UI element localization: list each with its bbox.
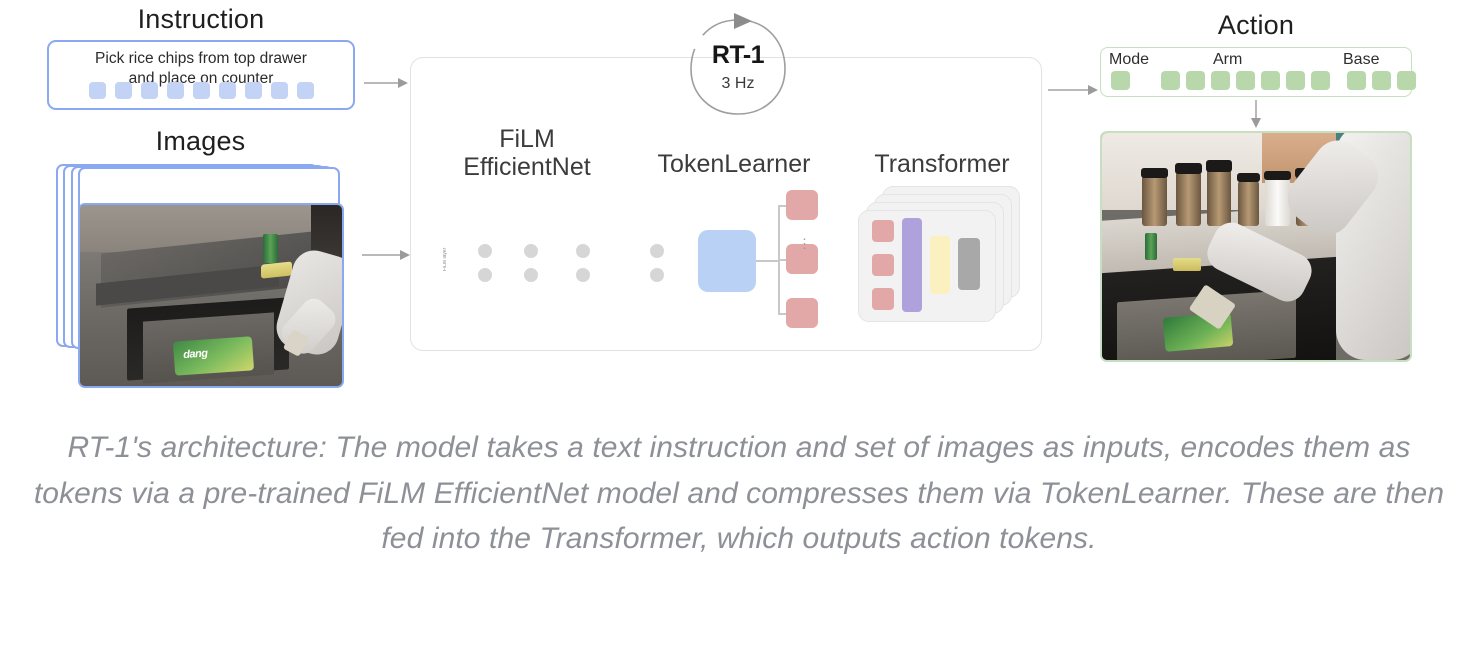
instruction-token (141, 82, 158, 99)
token-square-pink-1 (872, 220, 894, 242)
conv-bar-green (496, 224, 523, 333)
skip-dots-3 (576, 244, 590, 292)
film-title-line2: EfficientNet (463, 153, 590, 181)
instruction-token (89, 82, 106, 99)
instruction-token (193, 82, 210, 99)
rt1-label: RT-1 (684, 41, 792, 70)
bar-purple (902, 218, 922, 312)
tokenlearner-block: ⋮ (698, 190, 818, 330)
tokenlearner-title: TokenLearner (648, 150, 820, 178)
action-cell (1186, 71, 1205, 90)
skip-dots-1 (478, 244, 492, 292)
action-cells-mode (1111, 71, 1130, 90)
action-cell (1311, 71, 1330, 90)
conv-block-blue (536, 234, 576, 316)
skip-dots-4 (650, 244, 664, 292)
tokenlearner-output-1 (786, 190, 818, 220)
tl-wire-trunk (756, 260, 780, 262)
rt1-rate-label: 3 Hz (684, 75, 792, 93)
token-square-pink-3 (872, 288, 894, 310)
instruction-title: Instruction (47, 4, 355, 35)
token-square-pink-2 (872, 254, 894, 276)
images-stack: dang (48, 163, 353, 388)
transformer-block (858, 186, 1026, 326)
figure-canvas: Instruction Pick rice chips from top dra… (0, 0, 1478, 666)
action-cell (1111, 71, 1130, 90)
rt1-loop: RT-1 3 Hz (684, 13, 792, 121)
action-cell (1397, 71, 1416, 90)
transformer-title: Transformer (852, 150, 1032, 178)
action-cells-arm (1161, 71, 1330, 90)
tokenlearner-input (698, 230, 756, 292)
figure-caption: RT-1's architecture: The model takes a t… (30, 425, 1448, 562)
conv-bar-orange (426, 196, 443, 333)
action-cell (1236, 71, 1255, 90)
action-cell (1211, 71, 1230, 90)
action-cell (1161, 71, 1180, 90)
instruction-box: Pick rice chips from top drawer and plac… (47, 40, 355, 110)
images-title: Images (48, 126, 353, 157)
arrow-model-to-action (1048, 85, 1098, 95)
action-group-label-arm: Arm (1213, 51, 1242, 69)
conv-block-lavender (594, 243, 650, 293)
arrow-instruction-to-model (364, 78, 408, 88)
instruction-token (115, 82, 132, 99)
action-cell (1261, 71, 1280, 90)
instruction-line-1: Pick rice chips from top drawer (95, 50, 307, 67)
instruction-token (167, 82, 184, 99)
film-title-line1: FiLM (499, 125, 555, 153)
instruction-token-row (49, 82, 353, 99)
action-group-label-mode: Mode (1109, 51, 1149, 69)
skip-dots-2 (524, 244, 538, 292)
action-cell (1372, 71, 1391, 90)
tokenlearner-output-3 (786, 298, 818, 328)
arrow-images-to-model (362, 250, 410, 260)
input-image-photo: dang (78, 203, 344, 388)
instruction-token (297, 82, 314, 99)
tokenlearner-ellipsis: ⋮ (798, 240, 806, 248)
instruction-token (245, 82, 262, 99)
bar-yellow (930, 236, 950, 294)
output-result-photo (1100, 131, 1412, 362)
action-group-label-base: Base (1343, 51, 1379, 69)
action-box: Mode Arm Base (1100, 47, 1412, 97)
instruction-token (219, 82, 236, 99)
arrow-action-to-result (1251, 100, 1261, 128)
action-cell (1286, 71, 1305, 90)
bar-gray (958, 238, 980, 290)
film-layer-micro-label: FiLM layer (443, 228, 457, 290)
action-title: Action (1100, 10, 1412, 41)
action-cells-base (1347, 71, 1416, 90)
instruction-token (271, 82, 288, 99)
film-efficientnet-title: FiLM EfficientNet (432, 125, 622, 181)
action-cell (1347, 71, 1366, 90)
